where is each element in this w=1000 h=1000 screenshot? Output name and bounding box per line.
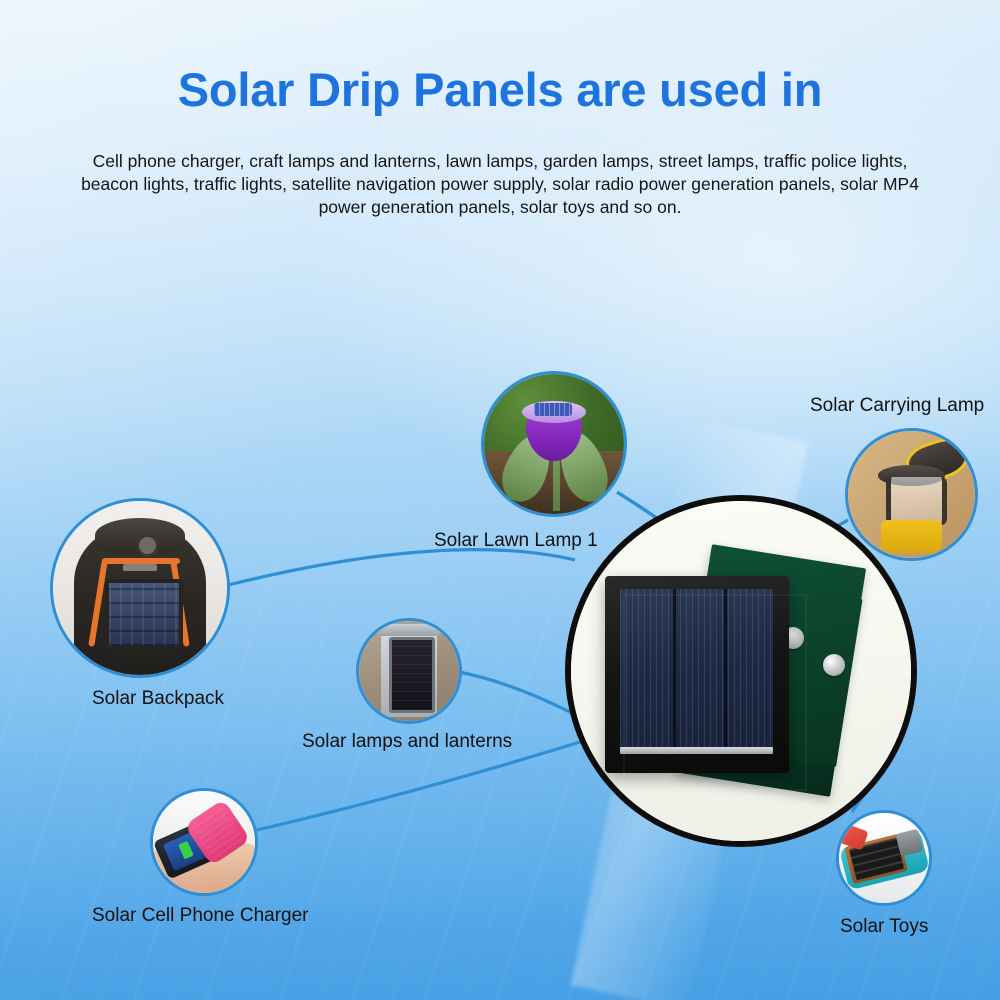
solar-lamps-and-lanterns-image — [356, 618, 462, 724]
wall-lamp-artwork — [359, 621, 459, 721]
solar-cell-phone-charger-image — [150, 788, 258, 896]
solar-toys-label: Solar Toys — [840, 916, 928, 938]
toy-boat-artwork — [839, 813, 929, 903]
carrying-lantern-artwork — [848, 431, 975, 558]
hero-panel-bezel — [605, 576, 825, 809]
backpack-artwork — [53, 501, 227, 675]
infographic-canvas: Solar Drip Panels are used in Cell phone… — [0, 0, 1000, 1000]
solar-carrying-lamp-label: Solar Carrying Lamp — [810, 395, 984, 417]
connector-phone-charger — [257, 742, 580, 830]
connector-wall-lamp — [459, 672, 572, 713]
tulip-lamp-artwork — [484, 374, 624, 514]
solar-lawn-lamp-label: Solar Lawn Lamp 1 — [434, 530, 598, 552]
page-description: Cell phone charger, craft lamps and lant… — [62, 150, 938, 219]
page-title: Solar Drip Panels are used in — [0, 64, 1000, 116]
hero-solder-dot — [823, 654, 845, 676]
phone-charger-artwork — [153, 791, 255, 893]
solar-lamps-and-lanterns-label: Solar lamps and lanterns — [302, 731, 512, 753]
solar-lawn-lamp-image — [481, 371, 627, 517]
solar-backpack-label: Solar Backpack — [92, 688, 224, 710]
connector-backpack — [228, 550, 575, 585]
solar-cell-phone-charger-label: Solar Cell Phone Charger — [92, 905, 309, 927]
solar-backpack-image — [50, 498, 230, 678]
solar-toys-image — [836, 810, 932, 906]
solar-carrying-lamp-image — [845, 428, 978, 561]
